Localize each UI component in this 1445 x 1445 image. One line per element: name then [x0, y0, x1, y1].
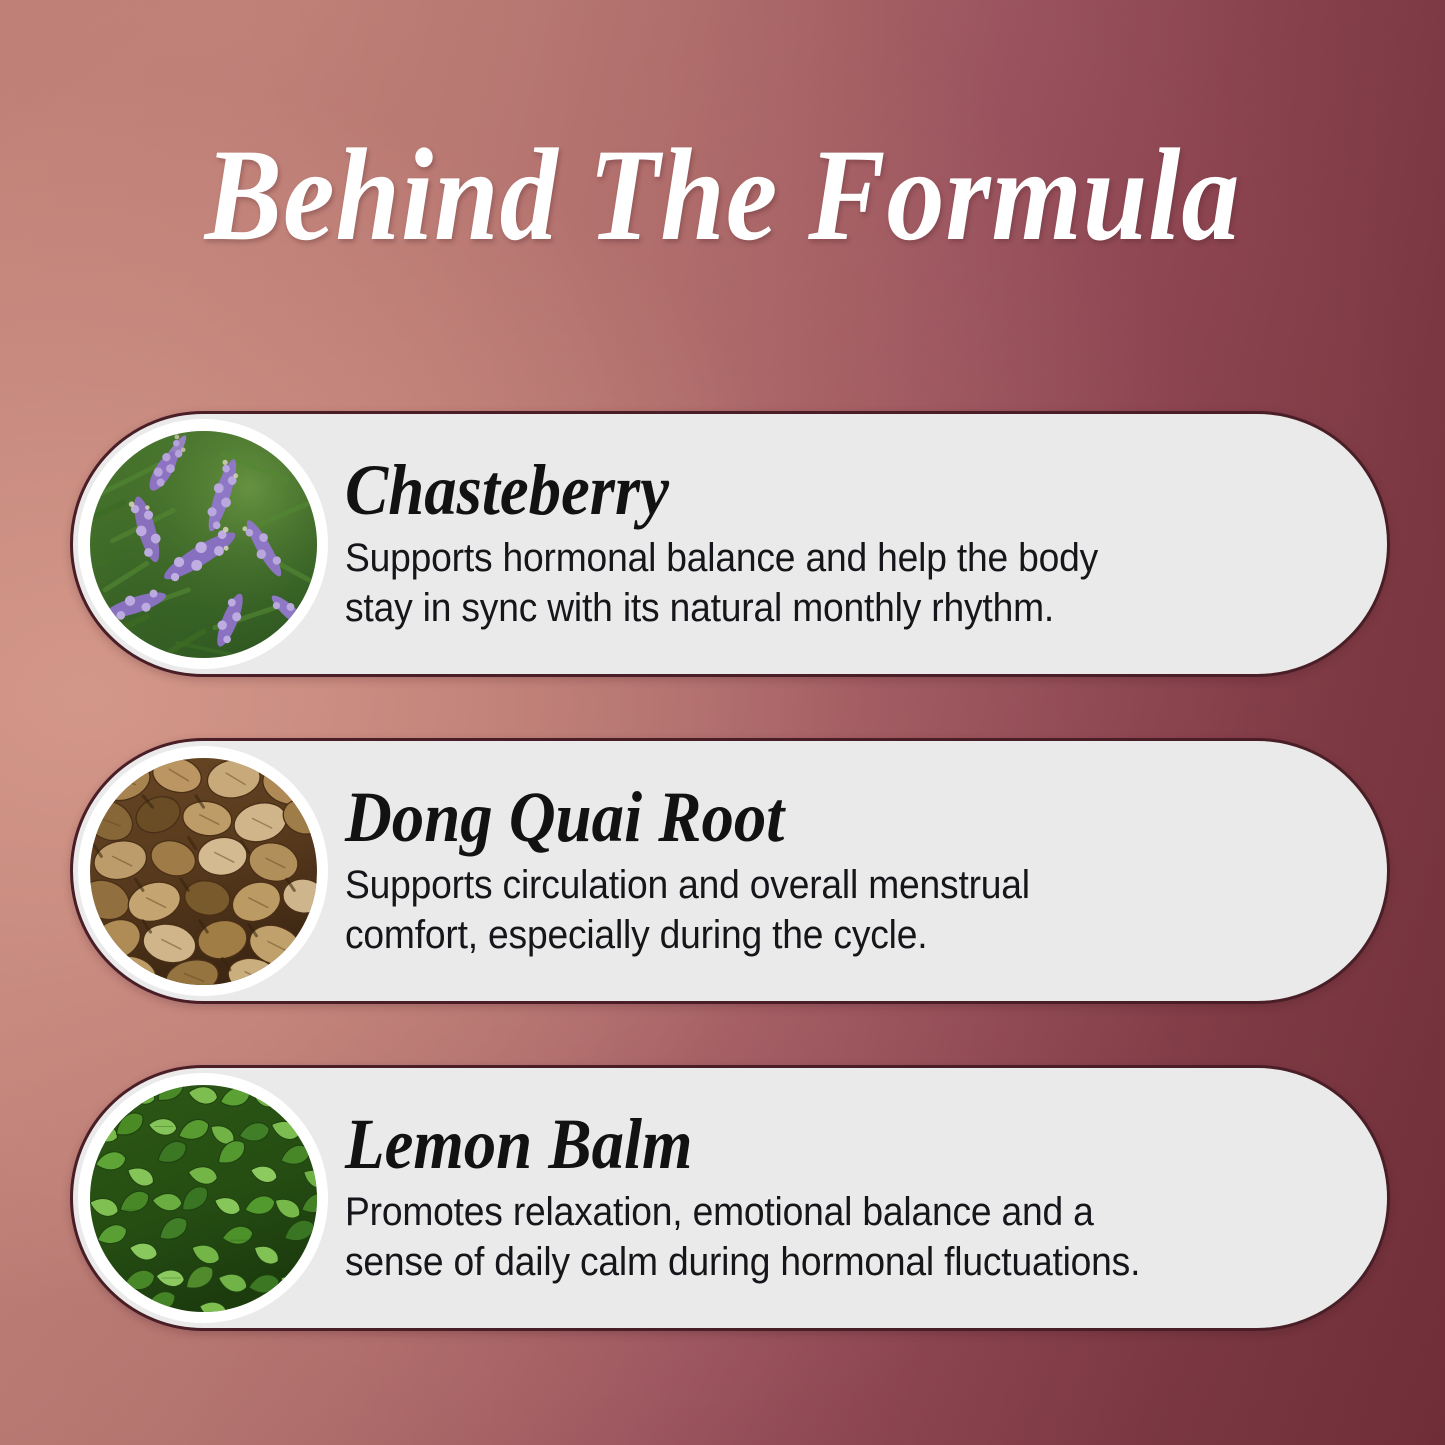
thumbnail-ring [78, 419, 328, 669]
description-line-2: comfort, especially during the cycle. [345, 911, 1266, 961]
chasteberry-flower-photo [90, 431, 317, 658]
ingredient-card-dong-quai-root[interactable]: Dong Quai Root Supports circulation and … [70, 738, 1390, 1004]
thumbnail-ring [78, 746, 328, 996]
ingredient-card-list: Chasteberry Supports hormonal balance an… [70, 411, 1390, 1331]
ingredient-card-chasteberry[interactable]: Chasteberry Supports hormonal balance an… [70, 411, 1390, 677]
ingredient-description: Promotes relaxation, emotional balance a… [345, 1188, 1266, 1287]
card-text-block: Dong Quai Root Supports circulation and … [345, 782, 1387, 960]
description-line-1: Supports hormonal balance and help the b… [345, 534, 1266, 584]
thumbnail-ring [78, 1073, 328, 1323]
description-line-1: Promotes relaxation, emotional balance a… [345, 1188, 1266, 1238]
description-line-1: Supports circulation and overall menstru… [345, 861, 1266, 911]
description-line-2: stay in sync with its natural monthly rh… [345, 584, 1266, 634]
ingredient-name: Chasteberry [345, 455, 1236, 526]
description-line-2: sense of daily calm during hormonal fluc… [345, 1238, 1266, 1288]
card-text-block: Lemon Balm Promotes relaxation, emotiona… [345, 1109, 1387, 1287]
ingredient-description: Supports circulation and overall menstru… [345, 861, 1266, 960]
dong-quai-root-photo [90, 758, 317, 985]
ingredient-name: Dong Quai Root [345, 782, 1236, 853]
lemon-balm-leaves-photo [90, 1085, 317, 1312]
page-title: Behind The Formula [87, 128, 1359, 263]
ingredient-description: Supports hormonal balance and help the b… [345, 534, 1266, 633]
ingredient-name: Lemon Balm [345, 1109, 1236, 1180]
ingredient-card-lemon-balm[interactable]: Lemon Balm Promotes relaxation, emotiona… [70, 1065, 1390, 1331]
card-text-block: Chasteberry Supports hormonal balance an… [345, 455, 1387, 633]
